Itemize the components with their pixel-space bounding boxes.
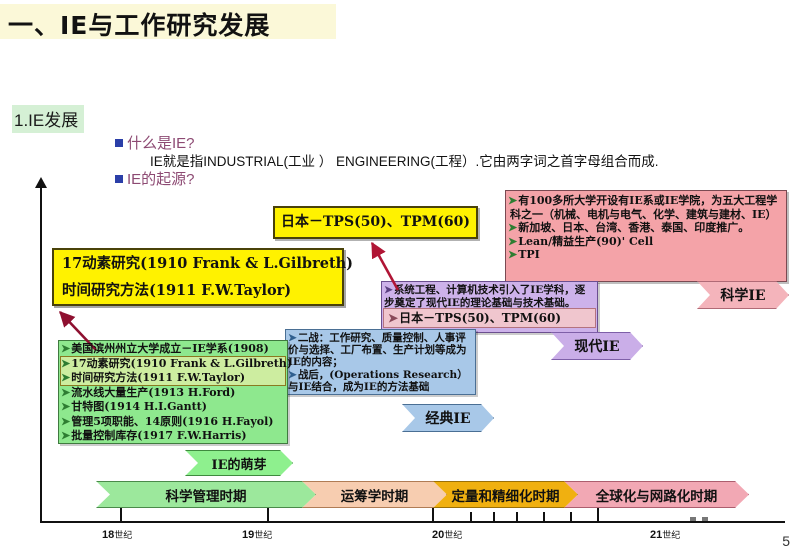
axis-label-18c: 18世纪 [102,528,132,541]
square-bullet-icon [115,175,123,183]
box-ie-origins: ➤美国滨州州立大学成立－IE学系(1908) ➤17动素研究(1910 Fran… [58,340,288,444]
box-line: ➤时间研究方法(1911 F.W.Taylor) [61,371,285,386]
x-axis-line [40,521,785,523]
box-world-war-period: ➤二战：工作研究、质量控制、人事评价与选择、工厂布置、生产计划等成为IE的内容；… [285,329,476,395]
box-line: ➤甘特图(1914 H.I.Gantt) [61,400,285,415]
y-axis-arrowhead-icon [35,177,47,188]
stage-label-seed-ie: IE的萌芽 [185,450,293,476]
box-line: ➤战后，(Operations Research）与IE结合，成为IE的方法基础 [288,369,473,393]
box-line: ➤有100多所大学开设有IE系或IE学院，为五大工程学科之一（机械、电机与电气、… [508,194,784,221]
era-operations-research: 运筹学时期 [302,481,447,508]
axis-tick-tiny [690,517,696,521]
era-scientific-management: 科学管理时期 [96,481,316,508]
axis-tick-tiny [702,517,708,521]
box-modern-university: ➤有100多所大学开设有IE系或IE学院，为五大工程学科之一（机械、电机与电气、… [505,190,787,282]
box-line: 日本－TPS(50)、TPM(60) [275,208,476,237]
y-axis-line [40,185,42,523]
axis-label-19c: 19世纪 [242,528,272,541]
axis-tick-minor [470,512,472,521]
box-line: ➤TPI [508,248,784,262]
box-line: 17动素研究(1910 Frank & L.Gilbreth) [54,250,342,277]
stage-label-classic-ie: 经典IE [402,404,494,432]
box-line: ➤美国滨州州立大学成立－IE学系(1908) [61,342,285,357]
slide-canvas: 一、IE与工作研究发展 1.IE发展 什么是IE? IE就是指INDUSTRIA… [0,0,800,553]
box-motion-and-time-study: 17动素研究(1910 Frank & L.Gilbreth) 时间研究方法(1… [52,248,344,306]
axis-label-20c: 20世纪 [432,528,462,541]
box-japan-tps-tpm: 日本－TPS(50)、TPM(60) [273,206,478,239]
bullet-label: IE的起源? [127,171,195,188]
box-line: ➤管理5项职能、14原则(1916 H.Fayol) [61,415,285,430]
stage-label-scientific-ie: 科学IE [697,281,789,309]
era-quantitative-refinement: 定量和精细化时期 [433,481,578,508]
box-systems-engineering: ➤系统工程、计算机技术引入了IE学科，逐步奠定了现代IE的理论基础与技术基础。 … [381,281,598,333]
section-heading: 1.IE发展 [12,105,84,133]
axis-label-21c: 21世纪 [650,528,680,541]
box-line: ➤新加坡、日本、台湾、香港、泰国、印度推广。 [508,221,784,235]
box-line: 时间研究方法(1911 F.W.Taylor) [54,277,342,304]
axis-tick-minor [493,512,495,521]
box-line: ➤二战：工作研究、质量控制、人事评价与选择、工厂布置、生产计划等成为IE的内容； [288,332,473,369]
box-line: ➤流水线大量生产(1913 H.Ford) [61,386,285,401]
box-line: ➤系统工程、计算机技术引入了IE学科，逐步奠定了现代IE的理论基础与技术基础。 [384,284,595,309]
box-line: ➤批量控制库存(1917 F.W.Harris) [61,429,285,444]
box-line: ➤17动素研究(1910 Frank & L.Gilbreth) [61,357,285,372]
axis-tick-minor [570,512,572,521]
box-line: ➤Lean/精益生产(90)' Cell [508,235,784,249]
page-title: 一、IE与工作研究发展 [8,6,338,42]
bullet-origin-of-ie: IE的起源? [115,168,195,189]
axis-tick-minor [516,512,518,521]
axis-tick-minor [543,512,545,521]
ie-definition-text: IE就是指INDUSTRIAL(工业 ） ENGINEERING(工程）.它由两… [150,150,659,170]
box-japan-tps-tpm-inner: ➤日本－TPS(50)、TPM(60) [383,308,596,328]
era-globalization-network: 全球化与网路化时期 [564,481,749,508]
square-bullet-icon [115,139,123,147]
page-number: 5 [782,533,790,549]
stage-label-modern-ie: 现代IE [551,332,643,360]
